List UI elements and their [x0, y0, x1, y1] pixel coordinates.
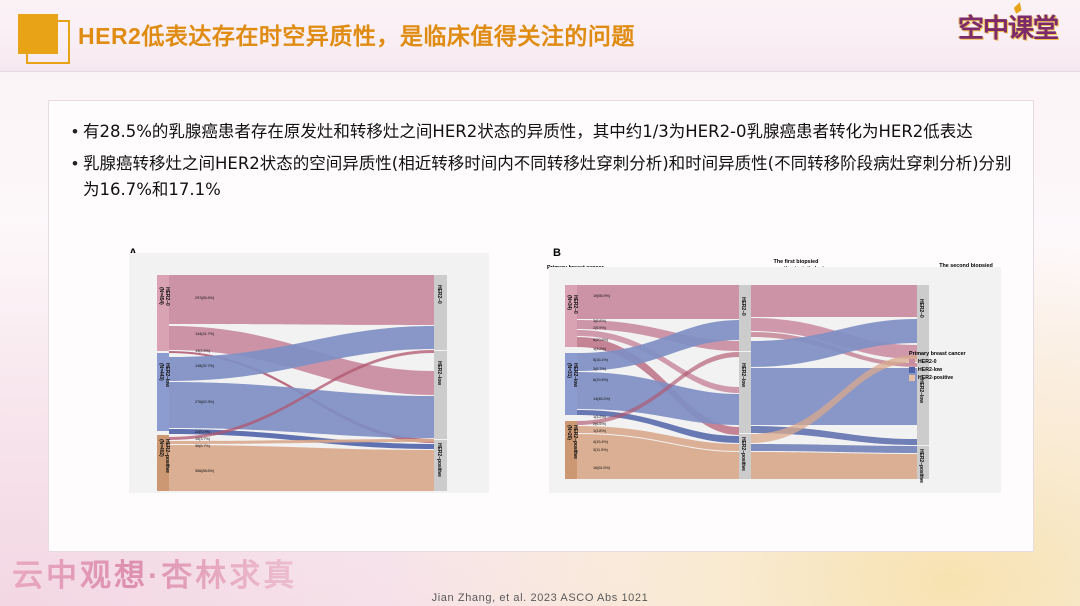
panel-a-right-label-her2-0: HER2−0 [436, 285, 442, 304]
panel-b-flow-label: 2(5.9%) [593, 325, 606, 330]
panel-b-left-label-her2-low: HER2−low(N=31) [566, 363, 578, 387]
panel-b-flow-label: 6(19.4%) [593, 377, 608, 382]
panel-a-flow-label: 356(88.6%) [195, 468, 214, 473]
panel-a-left-label-her2-low: HER2−low(N=443) [158, 363, 170, 387]
figure-legend: Primary breast cancer HER2-0 HER2-low HE… [909, 351, 1001, 383]
legend-item: HER2-positive [909, 375, 1001, 381]
legend-swatch-her2-0 [909, 359, 915, 365]
panel-b-mid-node-her2-0 [739, 285, 751, 351]
slide-root: HER2低表达存在时空异质性，是临床值得关注的问题 空中课堂 • 有28.5%的… [0, 0, 1080, 606]
legend-swatch-her2-positive [909, 375, 915, 381]
panel-b-right-label-her2-positive: HER2−positive [918, 449, 924, 483]
panel-b-flow-label: 14(45.2%) [593, 396, 610, 401]
panel-a-right-label-her2-low: HER2−low [436, 361, 442, 385]
panel-a-left-label-her2-positive: HER2−positive(N=402) [158, 439, 170, 473]
panel-a-flow-label: 36(8.7%) [195, 443, 210, 448]
panel-a-flow-label: 15(3.7%) [195, 436, 210, 441]
accent-square-solid [18, 14, 58, 54]
legend-item: HER2-low [909, 367, 1001, 373]
panel-a-flow-label: 145(32.7%) [195, 363, 214, 368]
panel-b-flow-label: 1(3.2%) [593, 414, 606, 419]
citation-text: Jian Zhang, et al. 2023 ASCO Abs 1021 [0, 592, 1080, 604]
panel-b-left-label-her2-positive: HER2−positive(N=26) [566, 425, 578, 459]
legend-title: Primary breast cancer [909, 351, 1001, 357]
list-item: • 有28.5%的乳腺癌患者存在原发灶和转移灶之间HER2状态的异质性，其中约1… [67, 119, 1015, 145]
panel-a-flow-label: 297(65.4%) [195, 295, 214, 300]
panel-b-flow-label: 1(3.2%) [593, 346, 606, 351]
bullet-text: 乳腺癌转移灶之间HER2状态的空间异质性(相近转移时间内不同转移灶穿刺分析)和时… [83, 151, 1015, 203]
panel-b-flow-label: 1(3.8%) [593, 428, 606, 433]
list-item: • 乳腺癌转移灶之间HER2状态的空间异质性(相近转移时间内不同转移灶穿刺分析)… [67, 151, 1015, 203]
panel-b-flow-label: 19(55.9%) [593, 293, 610, 298]
panel-b-left-label-her2-0: HER2−0(N=34) [566, 295, 578, 314]
legend-swatch-her2-low [909, 367, 915, 373]
legend-label-her2-low: HER2-low [918, 367, 942, 373]
logo-label: 空中课堂 [952, 8, 1064, 45]
panel-b-flow-label: 3(11.5%) [593, 447, 608, 452]
bullet-marker: • [67, 151, 83, 203]
panel-b-mid-label-her2-positive: HER2−positive [740, 437, 746, 471]
content-card: • 有28.5%的乳腺癌患者存在原发灶和转移灶之间HER2状态的异质性，其中约1… [48, 100, 1034, 552]
panel-b-flow-label: 5(16.1%) [593, 357, 608, 362]
legend-label-her2-0: HER2-0 [918, 359, 936, 365]
panel-a-left-label-her2-0: HER2−0(N=454) [158, 287, 170, 306]
panel-b-label: B [553, 247, 561, 259]
panel-a-flow-label: 22(5.0%) [195, 429, 210, 434]
panel-a-flow-label: 144(31.7%) [195, 331, 214, 336]
panel-a-flow-label: 276(62.3%) [195, 399, 214, 404]
bullet-marker: • [67, 119, 83, 145]
panel-a-flow-label: 13(2.9%) [195, 348, 210, 353]
panel-b-right-label-her2-0: HER2−0 [918, 299, 924, 318]
panel-b-flow-label: 6(20.5%) [593, 337, 608, 342]
panel-b-flow-label: 3(9.7%) [593, 366, 606, 371]
legend-item: HER2-0 [909, 359, 1001, 365]
panel-b-mid-label-her2-0: HER2−0 [740, 297, 746, 316]
bullet-list: • 有28.5%的乳腺癌患者存在原发灶和转移灶之间HER2状态的异质性，其中约1… [67, 119, 1015, 209]
panel-b-flow-label: 3(8.8%) [593, 318, 606, 323]
panel-b-flow-label: 16(61.5%) [593, 465, 610, 470]
panel-a: HER2−0(N=454) HER2−low(N=443) HER2−posit… [129, 253, 489, 493]
panel-a-right-label-her2-positive: HER2−positive [436, 443, 442, 477]
sankey-figure: A Primary breast cancer The first biopsi… [81, 253, 1001, 493]
channel-logo: 空中课堂 [952, 4, 1064, 56]
legend-label-her2-positive: HER2-positive [918, 375, 953, 381]
header-divider [0, 71, 1080, 72]
bullet-text: 有28.5%的乳腺癌患者存在原发灶和转移灶之间HER2状态的异质性，其中约1/3… [83, 119, 1015, 145]
slide-header: HER2低表达存在时空异质性，是临床值得关注的问题 空中课堂 [0, 0, 1080, 72]
panel-b-flow-label: 2(6.5%) [593, 421, 606, 426]
panel-b-flow-label: 4(15.4%) [593, 439, 608, 444]
panel-b-mid-label-her2-low: HER2−low [740, 363, 746, 387]
page-title: HER2低表达存在时空异质性，是临床值得关注的问题 [78, 17, 878, 51]
